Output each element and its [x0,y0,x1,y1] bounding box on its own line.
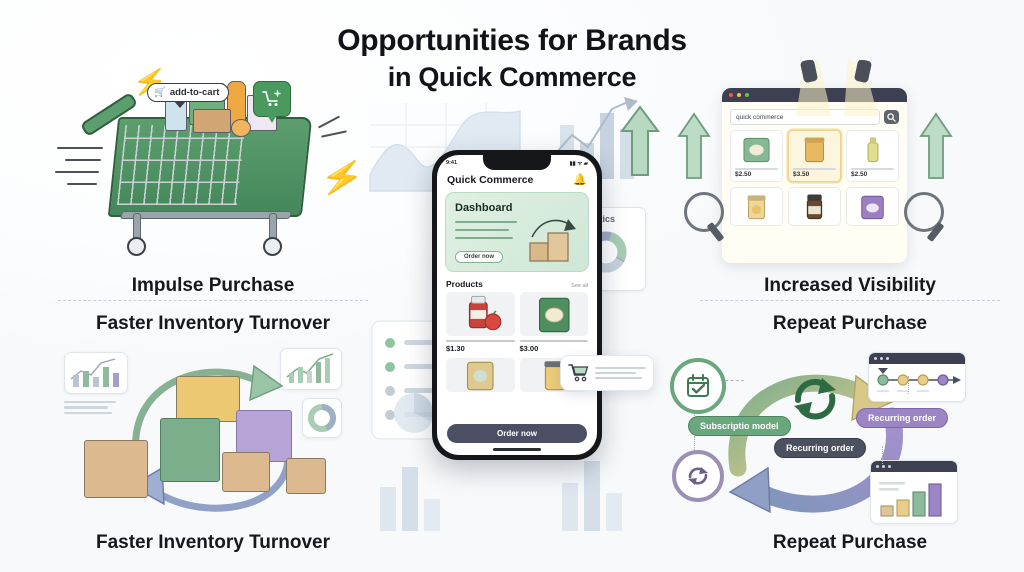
boxes-arrow-icon [524,215,584,267]
divider-right [700,300,1000,301]
products-header: Products See all [437,272,597,292]
speed-line [55,171,99,173]
speed-line [65,159,101,161]
products-title: Products [446,279,483,289]
speed-line [321,130,347,137]
title-line-2: in Quick Commerce [0,60,1024,94]
order-now-pill[interactable]: Order now [455,251,503,263]
package-box [286,458,326,494]
sauce-jar-icon [446,292,515,336]
cart-wheel [127,237,146,256]
product-cell-highlighted[interactable]: $3.50 [788,130,841,182]
bar-chart-icon [871,472,957,522]
sauce-bottle-icon [793,192,836,222]
dotted-connector [694,436,695,450]
divider-left [58,300,368,301]
caption-increased-visibility: Increased Visibility [700,275,1000,297]
lightning-bolt-icon: ⚡ [319,158,366,198]
dotted-connector [908,376,909,394]
grocery-item [193,109,231,133]
purple-pack-icon [851,192,894,222]
pill-recurring-order-right[interactable]: Recurring order [856,408,948,428]
product-price: $3.50 [793,171,836,178]
snack-pack-icon [520,292,589,336]
pill-subscription-model[interactable]: Subscriptio model [688,416,791,436]
product-price: $2.50 [851,171,894,178]
speed-line [318,115,340,128]
product-line [735,168,778,170]
product-cell[interactable] [788,187,841,226]
magnifying-glass-icon [684,192,724,232]
caption-impulse-purchase: Impulse Purchase [58,275,368,297]
calendar-check-icon [670,358,726,414]
floating-cart-card[interactable] [560,355,654,391]
jam-jar-icon [735,192,778,222]
bar-chart-browser-card [870,460,958,524]
product-card[interactable]: $1.30 [446,292,515,353]
impulse-purchase-illustration: ⚡ ⚡ 🛒 add-to-cart [55,75,355,265]
product-name-bar [520,340,589,342]
green-pack-icon [735,135,778,165]
dashboard-line [455,221,517,223]
pill-recurring-order-center[interactable]: Recurring order [774,438,866,458]
cart-frame [120,211,293,219]
app-header: Quick Commerce 🔔 [437,167,597,190]
dashboard-line [455,229,509,231]
grocery-item [231,119,251,137]
caption-repeat-purchase-top: Repeat Purchase [700,313,1000,335]
status-icons: ▮▮ ᯤ ▰ [570,159,588,167]
caption-faster-inventory-top: Faster Inventory Turnover [58,313,368,335]
speed-line [57,147,103,149]
order-now-button[interactable]: Order now [447,424,587,443]
cart-mesh [117,125,245,205]
product-price: $3.00 [520,344,589,353]
dotted-connector [882,446,883,464]
cart-wheel [263,237,282,256]
caption-repeat-purchase-bottom: Repeat Purchase [700,532,1000,554]
honey-jar-icon [793,135,836,165]
status-time: 9:41 [446,160,457,166]
product-cell[interactable] [730,187,783,226]
dashboard-card[interactable]: Dashboard Order now [445,192,589,272]
package-box [176,376,240,422]
phone-mockup: 9:41 ▮▮ ᯤ ▰ Quick Commerce 🔔 Dashboard O… [432,150,602,460]
package-box [160,418,220,482]
product-name-bar [446,340,515,342]
up-arrow-icon [676,112,712,182]
bell-icon[interactable]: 🔔 [573,173,587,186]
refresh-cycle-icon [788,372,842,422]
dashboard-title: Dashboard [455,202,512,214]
product-cell[interactable] [846,187,899,226]
phone-notch [483,155,551,170]
package-box [222,452,270,492]
snack-pack-icon [446,358,515,392]
product-line [793,168,836,170]
page-title: Opportunities for Brands in Quick Commer… [0,22,1024,94]
cart-icon [568,363,590,383]
speed-line [67,183,97,185]
product-cell[interactable]: $2.50 [730,130,783,182]
up-arrow-icon [618,105,662,177]
see-all-link[interactable]: See all [571,283,588,289]
oil-bottle-icon [851,135,894,165]
product-price: $2.50 [735,171,778,178]
dashboard-line [455,237,513,239]
product-price: $1.30 [446,344,515,353]
infographic-canvas: Opportunities for Brands in Quick Commer… [0,0,1024,572]
home-indicator [493,448,541,451]
app-title: Quick Commerce [447,174,533,186]
repeat-purchase-illustration: Subscriptio model Recurring order Recurr… [660,350,970,530]
product-line [851,168,894,170]
product-cell[interactable]: $2.50 [846,130,899,182]
inventory-turnover-illustration [58,340,368,515]
timeline-icon [869,364,965,400]
caption-faster-inventory-bottom: Faster Inventory Turnover [58,532,368,554]
cart-text-lines [595,364,646,382]
phone-screen: 9:41 ▮▮ ᯤ ▰ Quick Commerce 🔔 Dashboard O… [437,155,597,455]
timeline-browser-card [868,352,966,402]
package-box [84,440,148,498]
product-card[interactable]: $3.00 [520,292,589,353]
up-arrow-icon [918,112,954,182]
refresh-cycle-icon [672,450,724,502]
browser-product-grid: $2.50 $3.50 $2.50 [722,130,907,226]
bottom-bar-chart [380,461,622,531]
product-card[interactable] [446,358,515,392]
title-line-1: Opportunities for Brands [337,24,686,57]
